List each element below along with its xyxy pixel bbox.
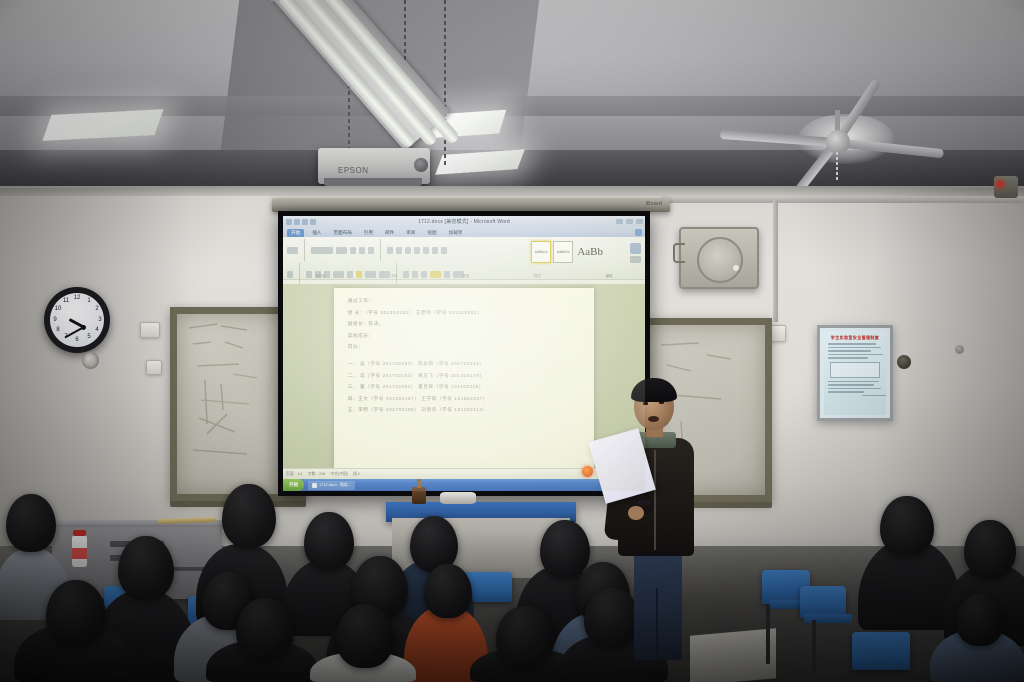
ceiling-projector: EPSON [318, 148, 430, 184]
poster-text-line [828, 343, 876, 345]
ribbon-group-labels: 剪贴板 字体 段落 样式 编辑 [283, 273, 645, 278]
poster-text-line [828, 350, 871, 352]
windows-taskbar[interactable]: 开始 1712.docx - 微软... [283, 479, 645, 491]
word-titlebar: 1712.docx [兼容模式] - Microsoft Word [283, 216, 645, 227]
presenter-leg-split [656, 588, 658, 660]
notification-badge-icon[interactable] [582, 466, 593, 477]
document-page[interactable]: 通过工作： 组 长：（学号 201302181） 王老师（学号 20131090… [334, 288, 595, 469]
ceiling-fan [740, 108, 1000, 178]
chair-leg [766, 604, 770, 664]
poster-text-line [828, 381, 879, 383]
decrease-indent-icon[interactable] [414, 247, 420, 254]
poster-text-line [828, 388, 881, 390]
wall-conduit [660, 196, 1024, 203]
ribbon-tabs[interactable]: 开始 插入 页面布局 引用 邮件 审阅 视图 加载项 [283, 227, 645, 237]
status-page: 页面：1/1 [286, 472, 303, 477]
eye-icon [643, 402, 648, 405]
clock-numeral: 11 [62, 298, 70, 304]
audience-head [236, 598, 294, 660]
taskbar-item-label: 1712.docx - 微软... [319, 483, 351, 488]
tab-view[interactable]: 视图 [423, 229, 440, 237]
clear-format-icon[interactable] [368, 247, 374, 254]
taskbar-item-word[interactable]: 1712.docx - 微软... [308, 481, 355, 490]
group-label-font: 字体 [391, 273, 398, 278]
status-words: 字数：238 [308, 472, 326, 477]
doc-line: 二、 高（学号 201702183） 黄志飞（学号 201310178） [348, 373, 581, 379]
fan-pull-chain[interactable] [836, 152, 838, 180]
poster-text-line [828, 354, 883, 356]
speaker-cone-icon [697, 237, 743, 283]
group-label-paragraph: 段落 [462, 273, 469, 278]
paste-icon[interactable] [287, 247, 298, 254]
tab-mailings[interactable]: 邮件 [381, 229, 398, 237]
doc-line: 得分： [348, 344, 581, 350]
audience-head [496, 606, 554, 668]
student-presenter [604, 378, 708, 682]
audience-head [304, 512, 354, 570]
wall-shadow-right [874, 188, 1024, 548]
clock-numeral: 4 [93, 327, 101, 333]
chair-leg [812, 620, 816, 672]
close-icon[interactable] [636, 219, 643, 224]
clock-face: 12 1 2 3 4 5 6 7 8 9 10 11 [50, 293, 104, 347]
font-name-dropdown[interactable] [311, 247, 333, 254]
clock-numeral: 6 [73, 337, 81, 343]
presenter-legs [634, 550, 682, 660]
numbering-icon[interactable] [396, 247, 402, 254]
clock-numeral: 5 [85, 334, 93, 340]
desk-lamp-base [412, 487, 426, 504]
wall-fixture-hole [82, 352, 99, 369]
framed-notice-poster: 学生实验室安全管理制度 [817, 325, 893, 421]
poster-title: 学生实验室安全管理制度 [824, 335, 886, 341]
group-label-styles: 样式 [534, 273, 541, 278]
podium-tray [440, 492, 476, 504]
doc-line: 组 长：（学号 201302181） 王老师（学号 201310901） [348, 310, 581, 316]
doc-line: 四、王文（学号 201302187） 王学辉（学号 101502227） [348, 396, 581, 402]
screen-brand-label: iBoard [646, 201, 662, 207]
word-icon [312, 483, 317, 488]
presenter-hair [631, 378, 677, 402]
increase-indent-icon[interactable] [423, 247, 429, 254]
indicator-led-icon [997, 181, 1003, 187]
tab-review[interactable]: 审阅 [402, 229, 419, 237]
poster-text-line [828, 384, 874, 386]
tab-page-layout[interactable]: 页面布局 [329, 229, 355, 237]
doc-line: 一、 吴（学号 201702183） 陈永和（学号 201702114） [348, 361, 581, 367]
poster-text-line [828, 391, 864, 393]
status-language: 中文(中国) [330, 472, 348, 477]
style-normal[interactable]: AaBbCc [531, 241, 551, 263]
group-label-editing: 编辑 [606, 273, 613, 278]
projection-screen-housing: iBoard [272, 198, 670, 212]
doc-line: 副组长：陈涛， [348, 321, 581, 327]
projector-brand-label: EPSON [338, 166, 369, 175]
audience-head [424, 564, 472, 618]
tab-addins[interactable]: 加载项 [445, 229, 467, 237]
wall-screw-icon [955, 345, 964, 354]
audience-head [336, 604, 394, 668]
audience-head [964, 520, 1016, 578]
tab-insert[interactable]: 插入 [308, 229, 325, 237]
wall-clock: 12 1 2 3 4 5 6 7 8 9 10 11 [44, 287, 110, 353]
audience-head [956, 594, 1004, 646]
tab-references[interactable]: 引用 [360, 229, 377, 237]
wall-switch[interactable] [140, 322, 160, 338]
speaker-dustcap [733, 265, 739, 271]
quick-styles-gallery[interactable]: AaBbCc AaBbCc AaBb [531, 241, 603, 263]
poster-highlight-box [830, 362, 880, 378]
editing-group[interactable] [630, 243, 641, 263]
clock-numeral: 9 [51, 317, 59, 323]
emergency-light [994, 176, 1018, 198]
bullets-icon[interactable] [387, 247, 393, 254]
poster-footer [862, 395, 886, 397]
audience-head [880, 496, 934, 556]
clock-numeral: 3 [96, 317, 104, 323]
group-label-clipboard: 剪贴板 [315, 273, 325, 278]
window-title: 1712.docx [兼容模式] - Microsoft Word [283, 218, 645, 225]
help-icon[interactable] [635, 229, 642, 236]
speaker-bracket [673, 243, 685, 263]
wall-outlet[interactable] [146, 360, 162, 375]
chair[interactable] [852, 632, 910, 670]
ribbon-panel[interactable]: AaBbCc AaBbCc AaBb 剪贴板 字体 段落 样式 编辑 [283, 237, 645, 280]
presenter-hand [628, 506, 644, 520]
clock-numeral: 12 [73, 295, 81, 301]
ribbon-separator [304, 239, 305, 261]
clock-center-pin [81, 325, 86, 330]
ribbon-separator [380, 239, 381, 261]
minimize-icon[interactable] [616, 219, 623, 224]
poster-text-line [828, 347, 881, 349]
jacket-zipper [654, 450, 656, 550]
sort-icon[interactable] [432, 247, 438, 254]
bottle-label [72, 548, 87, 559]
clock-numeral: 8 [54, 327, 62, 333]
audience-head [46, 580, 106, 646]
window-controls[interactable] [616, 219, 643, 224]
poster-inner: 学生实验室安全管理制度 [824, 331, 886, 415]
bottle-cap [73, 530, 86, 536]
start-button[interactable]: 开始 [283, 479, 304, 491]
multilevel-list-icon[interactable] [405, 247, 411, 254]
audience-head [118, 536, 174, 600]
audience-head [222, 484, 276, 548]
clock-numeral: 2 [93, 306, 101, 312]
clock-numeral: 1 [85, 298, 93, 304]
doc-line: 通过工作： [348, 298, 581, 304]
wall-mount-knob [897, 355, 911, 369]
grow-font-icon[interactable] [350, 247, 356, 254]
find-replace-icon[interactable] [630, 256, 641, 263]
status-insert: 插入 [353, 472, 361, 477]
doc-line: 三、 董（学号 201702090） 董皇辉（学号 101102118） [348, 384, 581, 390]
presenter-mouth [648, 416, 659, 422]
projector-lens-icon [414, 158, 428, 172]
wall-speaker [679, 227, 759, 289]
wristwatch-icon [638, 500, 651, 505]
maximize-icon[interactable] [626, 219, 633, 224]
doc-line: 五、李明（学号 201702189） 刘晓华（学号 101302113） [348, 407, 581, 413]
audience-head [6, 494, 56, 552]
font-size-dropdown[interactable] [336, 247, 347, 254]
poster-text-line [828, 357, 868, 359]
change-styles-icon[interactable] [630, 243, 641, 254]
style-heading-1[interactable]: AaBb [577, 247, 603, 258]
shrink-font-icon[interactable] [359, 247, 365, 254]
show-marks-icon[interactable] [441, 247, 447, 254]
style-no-spacing[interactable]: AaBbCc [553, 241, 573, 263]
fan-hub [826, 130, 850, 154]
clock-numeral: 10 [54, 306, 62, 312]
wall-conduit-drop [773, 200, 778, 322]
tab-home[interactable]: 开始 [287, 229, 304, 237]
doc-line: 其他成员： [348, 333, 581, 339]
classroom-scene: EPSON 12 1 2 3 4 5 6 7 8 9 10 [0, 0, 1024, 682]
audience-head [540, 520, 590, 578]
